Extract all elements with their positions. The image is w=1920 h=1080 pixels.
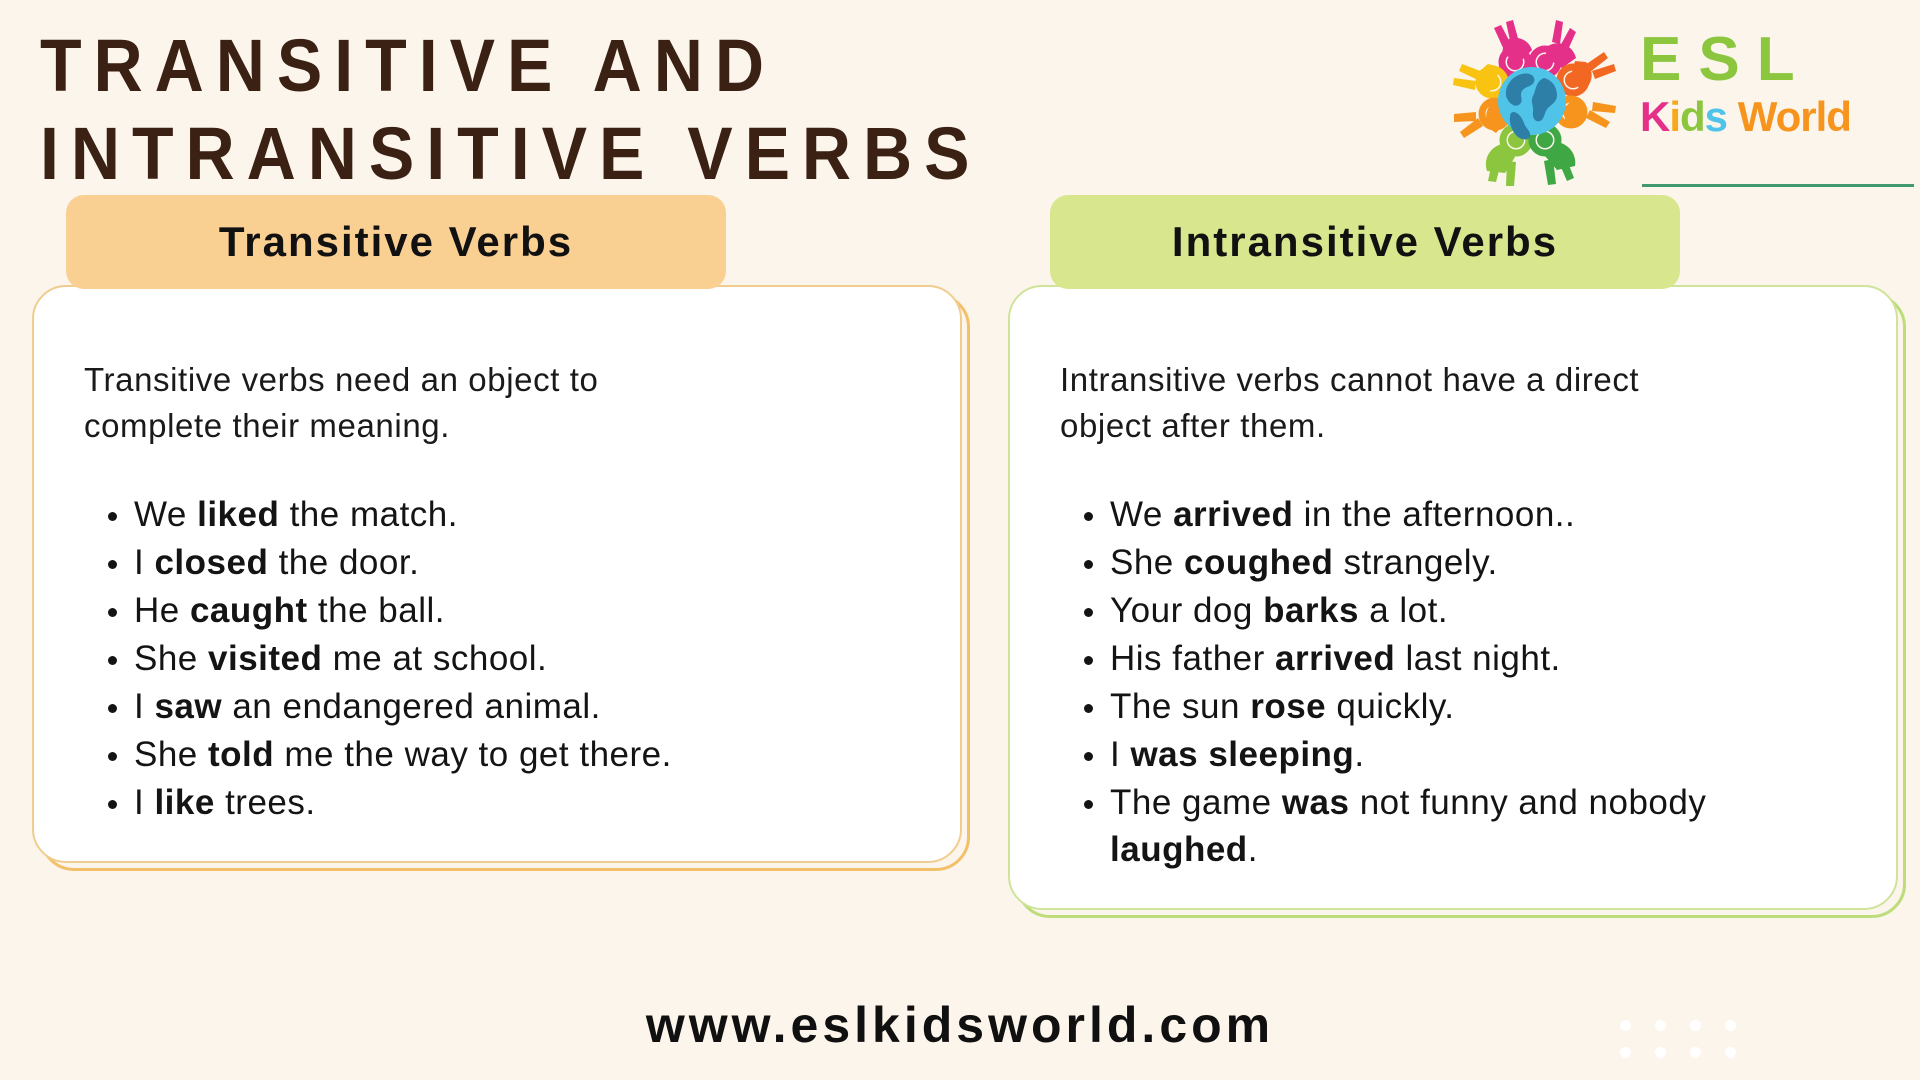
example-verb: visited	[208, 639, 322, 678]
brand-logo: ESL Kids World	[1444, 6, 1914, 196]
transitive-card-title: Transitive Verbs	[219, 218, 573, 266]
list-item: She visited me at school.	[104, 635, 926, 682]
page-title-line-1: TRANSITIVE AND	[40, 22, 1236, 110]
example-verb: rose	[1250, 687, 1326, 726]
brand-esl-text: ESL	[1640, 28, 1912, 92]
decorative-dot-grid	[1620, 1020, 1760, 1074]
transitive-card-intro: Transitive verbs need an object to compl…	[84, 357, 744, 449]
example-verb: was sleeping	[1130, 735, 1354, 774]
brand-kidsworld-text: Kids World	[1640, 94, 1912, 140]
example-pre: She	[134, 735, 208, 774]
example-verb: told	[208, 735, 274, 774]
list-item: I saw an endangered animal.	[104, 683, 926, 730]
example-post: me at school.	[322, 639, 547, 678]
example-post: quickly.	[1326, 687, 1454, 726]
example-verb: arrived	[1173, 495, 1293, 534]
example-pre: He	[134, 591, 190, 630]
example-pre: I	[134, 783, 154, 822]
dot	[1620, 1020, 1631, 1031]
brand-letter-s: s	[1705, 93, 1727, 140]
example-post: trees.	[215, 783, 316, 822]
example-verb: liked	[197, 495, 279, 534]
example-pre: We	[1110, 495, 1173, 534]
brand-wordmark: ESL Kids World	[1640, 28, 1912, 140]
example-post: .	[1354, 735, 1364, 774]
example-pre: We	[134, 495, 197, 534]
example-verb: arrived	[1275, 639, 1395, 678]
example-verb: barks	[1263, 591, 1359, 630]
globe-with-people-icon	[1444, 6, 1634, 196]
list-item: I was sleeping.	[1080, 731, 1862, 778]
example-post: a lot.	[1359, 591, 1448, 630]
example-verb: saw	[154, 687, 222, 726]
example-post: the door.	[268, 543, 419, 582]
example-pre: The game	[1110, 783, 1282, 822]
brand-word-world: World	[1727, 93, 1851, 140]
example-post: an endangered animal.	[222, 687, 601, 726]
dot	[1655, 1020, 1666, 1031]
intransitive-verbs-card: Intransitive Verbs Intransitive verbs ca…	[1008, 285, 1898, 910]
list-item: We arrived in the afternoon..	[1080, 491, 1862, 538]
dot	[1655, 1047, 1666, 1058]
brand-letter-d: d	[1680, 93, 1705, 140]
example-post-2: .	[1248, 830, 1258, 869]
list-item: She coughed strangely.	[1080, 539, 1862, 586]
example-verb: was	[1282, 783, 1350, 822]
dot	[1690, 1020, 1701, 1031]
list-item: I like trees.	[104, 779, 926, 826]
brand-letter-i: i	[1669, 93, 1680, 140]
example-verb: closed	[154, 543, 268, 582]
transitive-card-banner: Transitive Verbs	[66, 195, 726, 289]
example-post: the match.	[279, 495, 458, 534]
example-post: me the way to get there.	[274, 735, 672, 774]
intransitive-card-body: Intransitive verbs cannot have a direct …	[1008, 285, 1898, 910]
example-pre: His father	[1110, 639, 1275, 678]
dot	[1725, 1047, 1736, 1058]
transitive-card-body: Transitive verbs need an object to compl…	[32, 285, 962, 863]
example-verb: coughed	[1184, 543, 1333, 582]
list-item: She told me the way to get there.	[104, 731, 926, 778]
example-pre: I	[134, 687, 154, 726]
list-item: He caught the ball.	[104, 587, 926, 634]
example-post: the ball.	[308, 591, 445, 630]
example-post: strangely.	[1333, 543, 1497, 582]
brand-underline-rule	[1642, 184, 1914, 187]
transitive-examples-list: We liked the match. I closed the door. H…	[68, 491, 926, 826]
example-post: last night.	[1395, 639, 1561, 678]
example-pre: Your dog	[1110, 591, 1263, 630]
example-pre: I	[1110, 735, 1130, 774]
example-verb: like	[154, 783, 214, 822]
list-item: We liked the match.	[104, 491, 926, 538]
page-header: TRANSITIVE AND INTRANSITIVE VERBS	[0, 0, 1920, 215]
example-post: not funny and nobody	[1349, 783, 1706, 822]
example-pre: She	[134, 639, 208, 678]
example-pre: I	[134, 543, 154, 582]
page-title: TRANSITIVE AND INTRANSITIVE VERBS	[40, 22, 1340, 198]
list-item: The sun rose quickly.	[1080, 683, 1862, 730]
dot	[1620, 1047, 1631, 1058]
page-title-line-2: INTRANSITIVE VERBS	[40, 110, 1236, 198]
example-verb-2: laughed	[1110, 830, 1248, 869]
example-pre: She	[1110, 543, 1184, 582]
list-item: His father arrived last night.	[1080, 635, 1862, 682]
intransitive-card-intro: Intransitive verbs cannot have a direct …	[1060, 357, 1720, 449]
list-item: Your dog barks a lot.	[1080, 587, 1862, 634]
dot	[1690, 1047, 1701, 1058]
example-verb: caught	[190, 591, 308, 630]
example-post: in the afternoon..	[1293, 495, 1575, 534]
intransitive-examples-list: We arrived in the afternoon.. She coughe…	[1044, 491, 1862, 873]
example-pre: The sun	[1110, 687, 1250, 726]
list-item: The game was not funny and nobody laughe…	[1080, 779, 1862, 873]
list-item: I closed the door.	[104, 539, 926, 586]
intransitive-card-banner: Intransitive Verbs	[1050, 195, 1680, 289]
dot	[1725, 1020, 1736, 1031]
brand-letter-k: K	[1640, 93, 1669, 140]
transitive-verbs-card: Transitive Verbs Transitive verbs need a…	[32, 285, 962, 863]
intransitive-card-title: Intransitive Verbs	[1172, 218, 1558, 266]
